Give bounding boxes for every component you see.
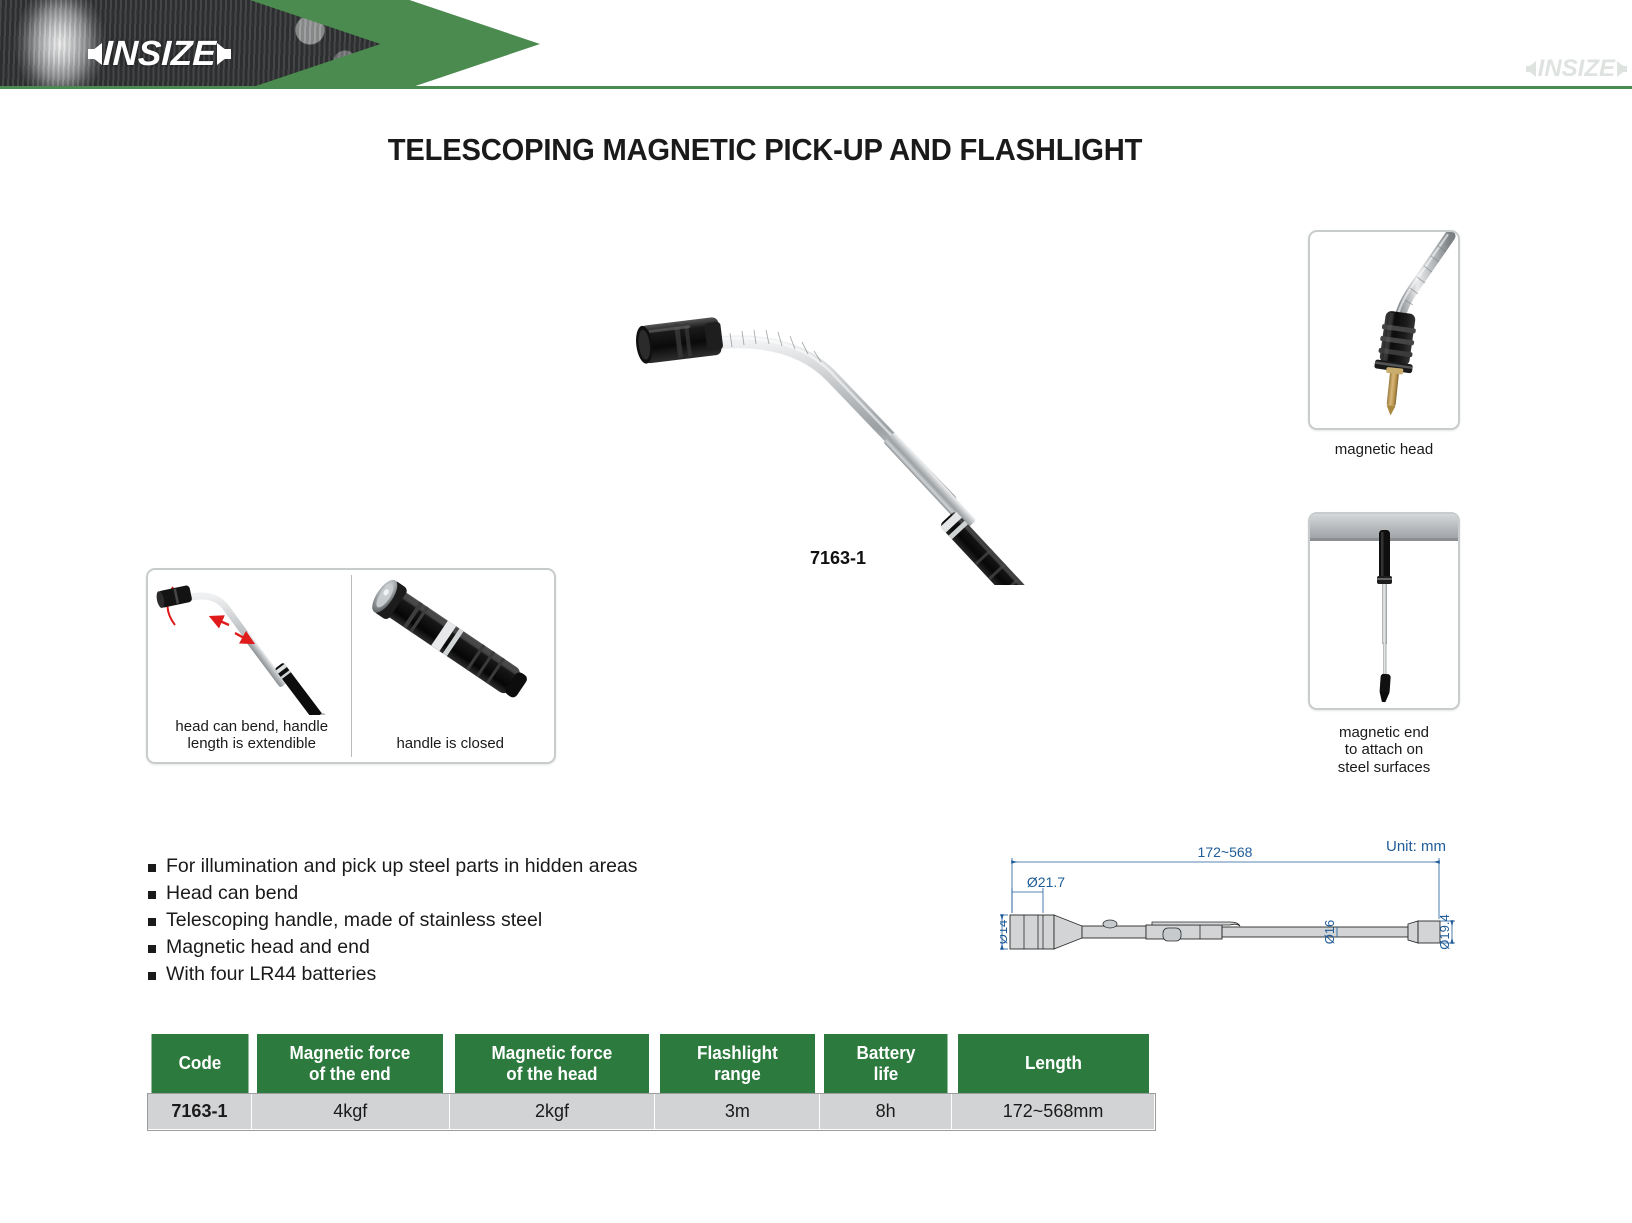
logo-left-arrow-icon [88,43,102,65]
column-header-battery-life-l2: life [873,1064,898,1084]
feature-item: For illumination and pick up steel parts… [148,855,768,879]
square-bullet-icon [148,918,156,926]
usage-inset-box: head can bend, handle length is extendib… [146,568,556,764]
usage-caption-bend: head can bend, handle length is extendib… [153,719,351,753]
cell-length: 172~568mm [952,1094,1155,1130]
magnetic-end-caption-l1: magnetic end [1339,724,1429,741]
magnetic-end-caption-l2: to attach on [1345,741,1423,758]
closed-illustration-svg [352,575,548,703]
column-header-code-l1: Code [178,1053,221,1073]
feature-text: For illumination and pick up steel parts… [166,855,638,879]
column-header-flashlight-range-l2: range [714,1064,761,1084]
magnetic-end-caption-l3: steel surfaces [1338,759,1431,776]
usage-panel-closed: handle is closed [352,575,550,757]
cell-force-end: 4kgf [251,1094,449,1130]
magnetic-end-caption: magnetic end to attach on steel surfaces [1284,724,1484,776]
column-header-battery-life-l1: Battery [856,1043,915,1063]
watermark-wordmark: INSIZE [1538,55,1615,83]
hero-product-image [620,285,1160,585]
feature-list: For illumination and pick up steel parts… [148,855,768,990]
logo-wordmark: INSIZE [102,34,216,74]
cell-force-head: 2kgf [449,1094,655,1130]
hero-product-svg [620,285,1160,585]
magnetic-end-inset [1308,512,1460,710]
column-header-flashlight-range: Flashlight range [659,1034,816,1094]
cell-code: 7163-1 [148,1094,252,1130]
square-bullet-icon [148,972,156,980]
column-header-code: Code [150,1034,249,1094]
datasheet-page: INSIZE INSIZE TELESCOPING MAGNETIC PICK-… [0,0,1632,1223]
watermark-right-arrow-icon [1617,61,1627,77]
column-header-battery-life: Battery life [823,1034,948,1094]
specification-table: Code Magnetic force of the end Magnetic … [147,1033,1155,1130]
column-header-force-head-l1: Magnetic force [492,1043,613,1063]
hero-model-label: 7163-1 [810,548,866,569]
column-header-force-head: Magnetic force of the head [454,1034,649,1094]
dim-tip-diameter: Ø14 [1000,920,1010,945]
column-header-force-end-l2: of the end [309,1064,391,1084]
usage-caption-bend-l1: head can bend, handle [175,718,328,735]
feature-item: Magnetic head and end [148,936,768,960]
magnetic-head-svg [1310,232,1458,428]
magnetic-head-caption: magnetic head [1284,441,1484,458]
insize-logo: INSIZE [88,34,231,74]
column-header-length-l1: Length [1025,1053,1082,1073]
feature-item: With four LR44 batteries [148,963,768,987]
page-title: TELESCOPING MAGNETIC PICK-UP AND FLASHLI… [46,132,1484,168]
usage-caption-closed: handle is closed [352,736,550,753]
column-header-force-end: Magnetic force of the end [256,1034,444,1094]
page-header: INSIZE [0,0,1632,88]
square-bullet-icon [148,945,156,953]
dim-end-diameter: Ø19.4 [1437,914,1452,949]
usage-caption-bend-l2: length is extendible [188,735,316,752]
square-bullet-icon [148,864,156,872]
magnetic-head-inset [1308,230,1460,430]
insize-watermark: INSIZE [1526,55,1627,83]
feature-text: Telescoping handle, made of stainless st… [166,909,542,933]
column-header-force-head-l2: of the head [506,1064,597,1084]
logo-right-arrow-icon [217,43,231,65]
magnetic-end-svg [1310,514,1458,708]
feature-text: Head can bend [166,882,298,906]
dim-shaft-diameter: Ø16 [1322,920,1337,945]
technical-drawing-svg: 172~568 Ø21.7 Ø14 Ø16 Ø19.4 [1000,830,1480,980]
dim-overall-length: 172~568 [1198,844,1253,860]
feature-item: Telescoping handle, made of stainless st… [148,909,768,933]
watermark-left-arrow-icon [1526,61,1536,77]
table-row: 7163-1 4kgf 2kgf 3m 8h 172~568mm [148,1094,1155,1130]
cell-battery-life: 8h [820,1094,952,1130]
bend-illustration-svg [153,575,349,715]
column-header-flashlight-range-l1: Flashlight [697,1043,778,1063]
column-header-length: Length [957,1034,1150,1094]
usage-panel-bend: head can bend, handle length is extendib… [153,575,352,757]
feature-text: With four LR44 batteries [166,963,376,987]
technical-drawing: 172~568 Ø21.7 Ø14 Ø16 Ø19.4 [1000,830,1480,980]
dim-head-diameter: Ø21.7 [1027,874,1065,890]
column-header-force-end-l1: Magnetic force [290,1043,411,1063]
feature-text: Magnetic head and end [166,936,370,960]
feature-item: Head can bend [148,882,768,906]
cell-flashlight-range: 3m [655,1094,820,1130]
header-green-rule [0,86,1632,89]
square-bullet-icon [148,891,156,899]
magnetic-head-caption-l1: magnetic head [1335,441,1433,458]
table-header-row: Code Magnetic force of the end Magnetic … [148,1034,1155,1094]
